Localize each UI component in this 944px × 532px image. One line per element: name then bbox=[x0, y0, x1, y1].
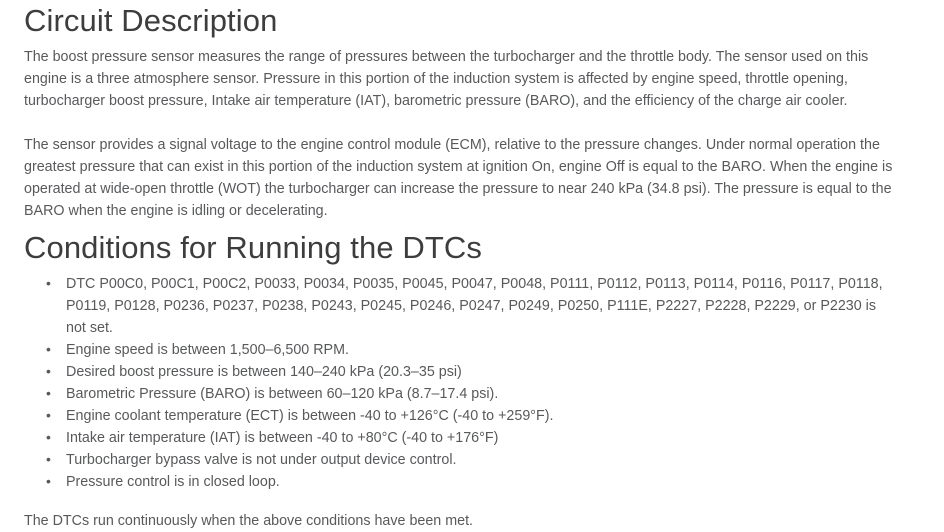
list-item-engine-coolant-temperature: Engine coolant temperature (ECT) is betw… bbox=[24, 405, 920, 427]
paragraph-signal-voltage: The sensor provides a signal voltage to … bbox=[24, 112, 896, 222]
paragraph-sensor-measures: The boost pressure sensor measures the r… bbox=[24, 40, 884, 112]
heading-conditions-for-running-the-dtcs: Conditions for Running the DTCs bbox=[24, 222, 920, 267]
heading-circuit-description: Circuit Description bbox=[24, 0, 920, 40]
document-page: Circuit Description The boost pressure s… bbox=[0, 0, 944, 504]
conditions-list: DTC P00C0, P00C1, P00C2, P0033, P0034, P… bbox=[24, 273, 920, 493]
list-item-dtc-codes: DTC P00C0, P00C1, P00C2, P0033, P0034, P… bbox=[24, 273, 898, 339]
list-item-turbocharger-bypass-valve: Turbocharger bypass valve is not under o… bbox=[24, 449, 920, 471]
list-item-intake-air-temperature: Intake air temperature (IAT) is between … bbox=[24, 427, 920, 449]
list-item-pressure-control: Pressure control is in closed loop. bbox=[24, 471, 920, 493]
list-item-barometric-pressure: Barometric Pressure (BARO) is between 60… bbox=[24, 383, 920, 405]
paragraph-dtcs-run-continuously: The DTCs run continuously when the above… bbox=[24, 493, 884, 532]
list-item-desired-boost-pressure: Desired boost pressure is between 140–24… bbox=[24, 361, 920, 383]
list-item-engine-speed: Engine speed is between 1,500–6,500 RPM. bbox=[24, 339, 920, 361]
